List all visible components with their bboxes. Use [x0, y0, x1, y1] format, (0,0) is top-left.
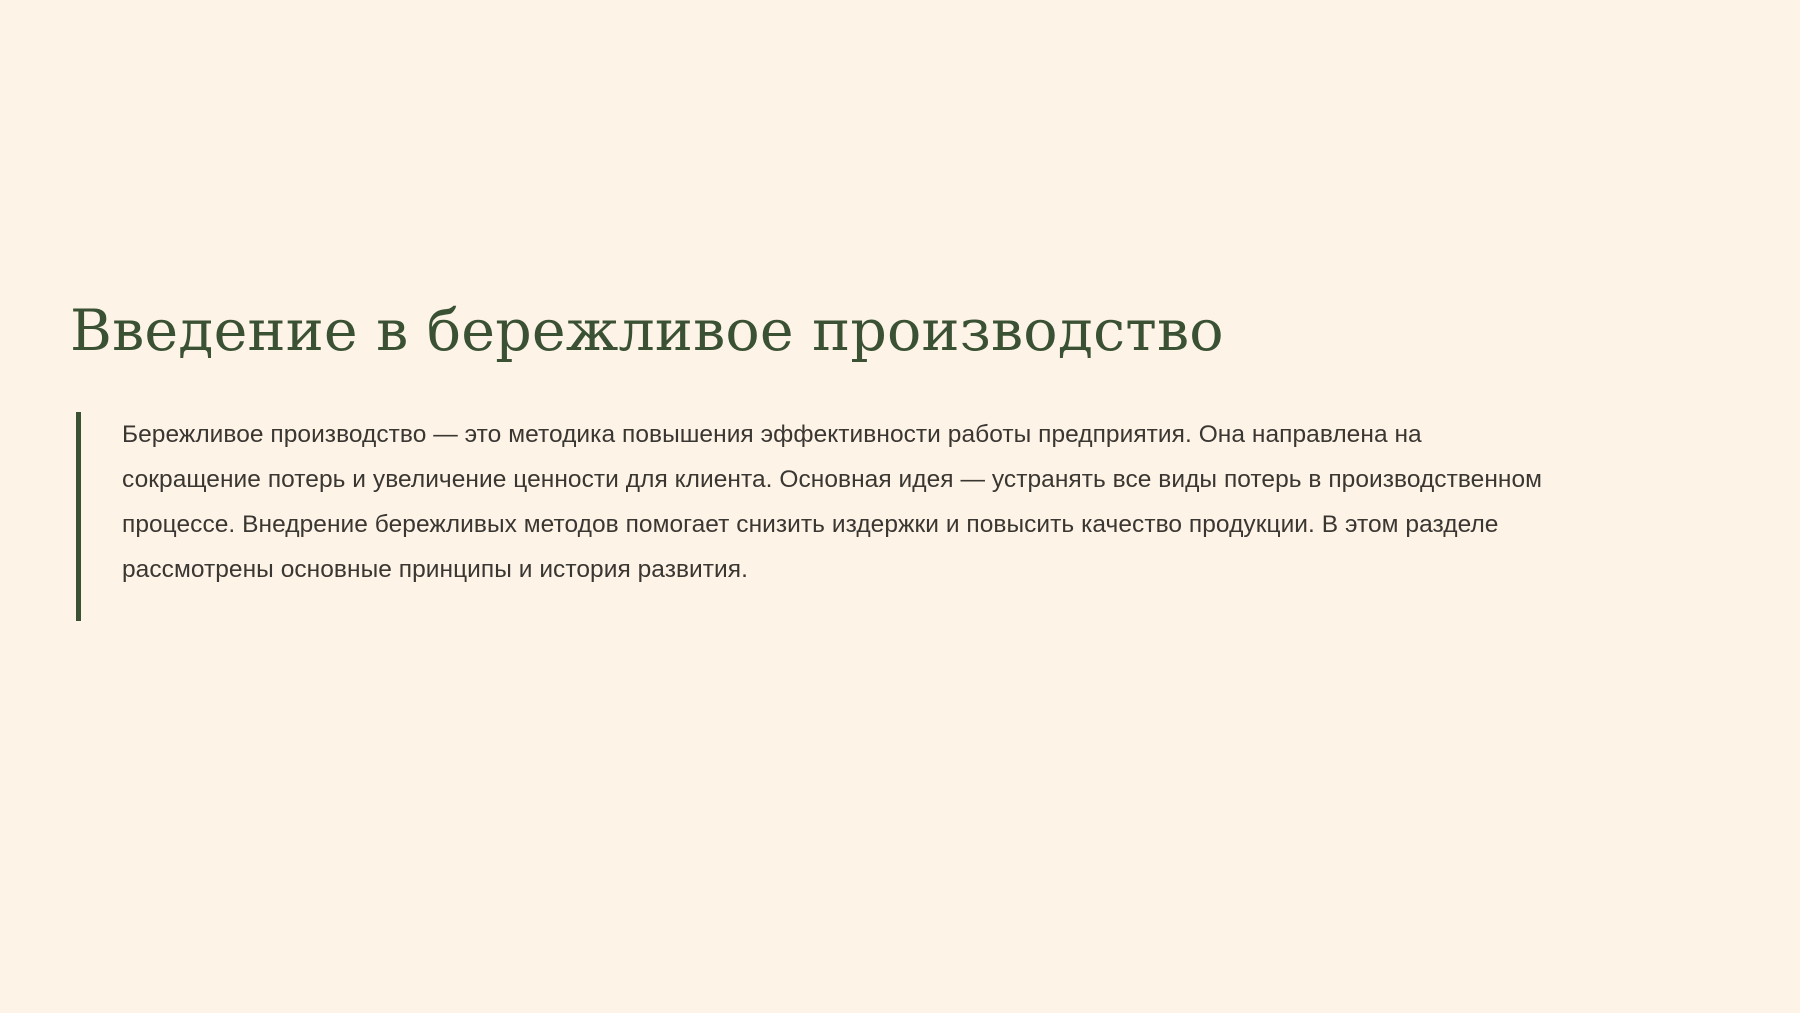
body-paragraph: Бережливое производство — это методика п… [122, 412, 1562, 592]
slide-canvas: Введение в бережливое производство Береж… [0, 0, 1800, 1013]
slide-content-block: Введение в бережливое производство Береж… [70, 300, 1750, 592]
accent-bar [76, 412, 81, 621]
quote-block: Бережливое производство — это методика п… [76, 412, 1750, 592]
page-title: Введение в бережливое производство [70, 300, 1750, 364]
